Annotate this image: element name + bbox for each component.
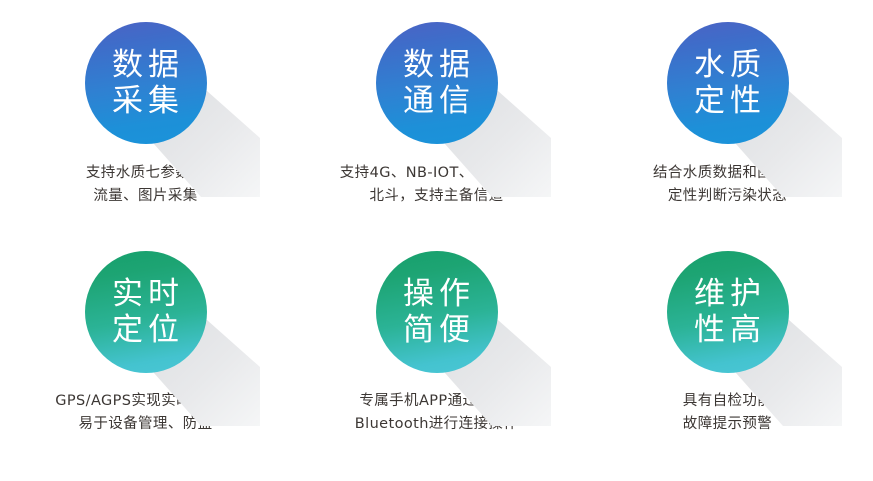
feature-caption-line-1: 支持4G、NB-IOT、以太网、: [340, 162, 533, 185]
feature-badge: 实时 定位: [85, 251, 207, 373]
feature-card-high-maintainability[interactable]: 维护 性高 具有自检功能 故障提示预警: [582, 229, 873, 458]
feature-disc: 数据 通信: [376, 22, 498, 144]
feature-disc: 水质 定性: [667, 22, 789, 144]
feature-caption: 结合水质数据和图片， 定性判断污染状态: [653, 162, 802, 208]
feature-badge: 操作 简便: [376, 251, 498, 373]
feature-caption-line-2: 故障提示预警: [683, 413, 772, 436]
feature-title-line-2: 采集: [107, 83, 184, 119]
feature-disc: 操作 简便: [376, 251, 498, 373]
feature-badge: 水质 定性: [667, 22, 789, 144]
feature-caption: 支持水质七参数、 流量、图片采集: [86, 162, 205, 208]
feature-caption: 具有自检功能 故障提示预警: [683, 390, 772, 436]
feature-caption-line-2: 北斗，支持主备信道: [340, 185, 533, 208]
feature-caption-line-2: 流量、图片采集: [86, 185, 205, 208]
feature-caption-line-2: Bluetooth进行连接操作: [355, 413, 518, 436]
feature-title-line-1: 数据: [398, 47, 475, 83]
feature-title-line-2: 性高: [689, 312, 766, 348]
feature-title-line-2: 定性: [689, 83, 766, 119]
feature-caption-line-2: 定性判断污染状态: [653, 185, 802, 208]
feature-title-line-1: 实时: [107, 276, 184, 312]
feature-disc: 实时 定位: [85, 251, 207, 373]
feature-card-water-quality-qualitative[interactable]: 水质 定性 结合水质数据和图片， 定性判断污染状态: [582, 0, 873, 229]
feature-title-line-2: 通信: [398, 83, 475, 119]
feature-card-data-communication[interactable]: 数据 通信 支持4G、NB-IOT、以太网、 北斗，支持主备信道: [291, 0, 582, 229]
feature-badge: 数据 采集: [85, 22, 207, 144]
feature-card-easy-operation[interactable]: 操作 简便 专属手机APP通过WiFi/ Bluetooth进行连接操作: [291, 229, 582, 458]
feature-badge: 维护 性高: [667, 251, 789, 373]
feature-title-line-1: 数据: [107, 47, 184, 83]
feature-card-realtime-positioning[interactable]: 实时 定位 GPS/AGPS实现实时定位， 易于设备管理、防盗: [0, 229, 291, 458]
feature-title-line-1: 维护: [689, 276, 766, 312]
feature-caption: 支持4G、NB-IOT、以太网、 北斗，支持主备信道: [340, 162, 533, 208]
feature-grid-board: 数据 采集 支持水质七参数、 流量、图片采集 数据 通信 支持4G、NB-: [0, 0, 873, 458]
feature-grid: 数据 采集 支持水质七参数、 流量、图片采集 数据 通信 支持4G、NB-: [0, 0, 873, 458]
feature-caption-line-1: 支持水质七参数、: [86, 162, 205, 185]
feature-caption-line-2: 易于设备管理、防盗: [55, 413, 235, 436]
feature-card-data-collection[interactable]: 数据 采集 支持水质七参数、 流量、图片采集: [0, 0, 291, 229]
feature-title-line-2: 定位: [107, 312, 184, 348]
feature-disc: 维护 性高: [667, 251, 789, 373]
feature-disc: 数据 采集: [85, 22, 207, 144]
feature-badge: 数据 通信: [376, 22, 498, 144]
feature-caption: 专属手机APP通过WiFi/ Bluetooth进行连接操作: [355, 390, 518, 436]
feature-title-line-1: 水质: [689, 47, 766, 83]
feature-caption: GPS/AGPS实现实时定位， 易于设备管理、防盗: [55, 390, 235, 436]
feature-caption-line-1: 专属手机APP通过WiFi/: [355, 390, 518, 413]
feature-caption-line-1: 具有自检功能: [683, 390, 772, 413]
feature-title-line-2: 简便: [398, 312, 475, 348]
feature-caption-line-1: 结合水质数据和图片，: [653, 162, 802, 185]
feature-title-line-1: 操作: [398, 276, 475, 312]
feature-caption-line-1: GPS/AGPS实现实时定位，: [55, 390, 235, 413]
